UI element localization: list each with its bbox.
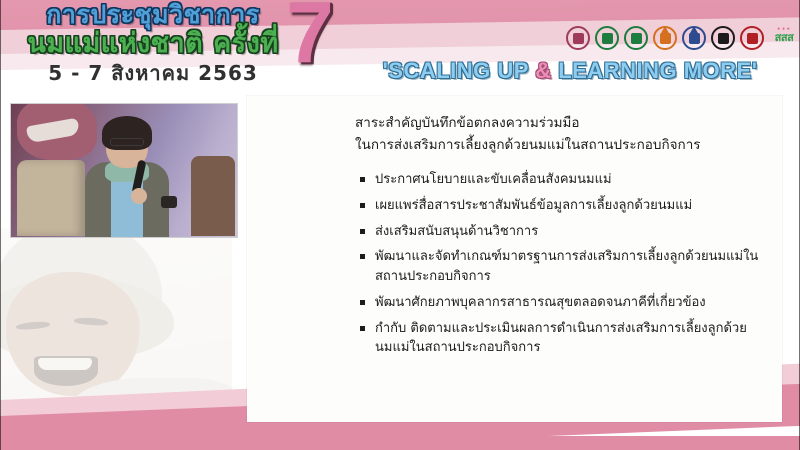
- conference-slogan: 'SCALING UP & LEARNING MORE': [355, 58, 785, 84]
- watermark-shoulder: [70, 378, 232, 428]
- logo-core: [602, 33, 613, 44]
- conference-title-block: การประชุมวิชาการ นมแม่แห่งชาติ ครั้งที่ …: [18, 2, 288, 83]
- list-item: ประกาศนโยบายและขับเคลื่อนสังคมนมแม่: [359, 170, 759, 190]
- presentation-slide: การประชุมวิชาการ นมแม่แห่งชาติ ครั้งที่ …: [0, 0, 800, 450]
- list-item: พัฒนาศักยภาพบุคลากรสาธารณสุขตลอดจนภาคีที…: [359, 293, 759, 313]
- ministry-of-public-health-logo: [595, 26, 619, 50]
- logo-core: [660, 33, 671, 44]
- thai-pediatric-society-logo: [653, 26, 677, 50]
- list-item: เผยแพร่สื่อสารประชาสัมพันธ์ข้อมูลการเลี้…: [359, 196, 759, 216]
- royal-patronage-seal-logo: [566, 26, 590, 50]
- ministry-of-labour-logo: [740, 26, 764, 50]
- conference-title-line2: นมแม่แห่งชาติ ครั้งที่: [18, 30, 288, 57]
- conference-date: 5 - 7 สิงหาคม 2563: [18, 63, 288, 83]
- watermark-teeth: [38, 358, 92, 370]
- logo-core: [631, 33, 642, 44]
- video-chair-right: [191, 156, 235, 236]
- slogan-part-open: 'SCALING UP: [383, 58, 536, 83]
- list-item: ส่งเสริมสนับสนุนด้านวิชาการ: [359, 222, 759, 242]
- speaker-glasses: [110, 138, 144, 146]
- list-item: พัฒนาและจัดทำเกณฑ์มาตรฐานการส่งเสริมการเ…: [359, 247, 759, 287]
- thaihealth-logo: ••• สสส: [769, 26, 799, 50]
- content-bullet-list: ประกาศนโยบายและขับเคลื่อนสังคมนมแม่ เผยแ…: [359, 170, 759, 364]
- logo-core: [573, 33, 584, 44]
- content-heading-line1: สาระสำคัญบันทึกข้อตกลงความร่วมมือ: [355, 112, 765, 134]
- content-heading-line2: ในการส่งเสริมการเลี้ยงลูกด้วยนมแม่ในสถาน…: [355, 134, 765, 156]
- presenter-clicker: [161, 196, 177, 208]
- nursing-council-logo: [711, 26, 735, 50]
- department-of-health-logo: [624, 26, 648, 50]
- slogan-part-close: LEARNING MORE': [552, 58, 758, 83]
- video-chair-left: [17, 160, 85, 236]
- conference-title-line1: การประชุมวิชาการ: [18, 2, 288, 27]
- logo-core: [718, 33, 729, 44]
- edition-number: 7: [286, 0, 334, 76]
- smiling-child-photo-watermark: [0, 228, 232, 428]
- slide-content-panel: สาระสำคัญบันทึกข้อตกลงความร่วมมือ ในการส…: [247, 96, 782, 422]
- partner-logo-strip: ••• สสส: [566, 26, 799, 50]
- logo-core: [747, 33, 758, 44]
- speaker-video-feed[interactable]: [10, 103, 238, 238]
- content-heading: สาระสำคัญบันทึกข้อตกลงความร่วมมือ ในการส…: [355, 112, 765, 157]
- speaker-hand: [131, 188, 147, 204]
- logo-core: [689, 33, 700, 44]
- thaihealth-dots: •••: [769, 27, 799, 33]
- slide-edge-left: [0, 0, 1, 450]
- royal-college-logo: [682, 26, 706, 50]
- slogan-ampersand: &: [535, 58, 551, 83]
- list-item: กำกับ ติดตามและประเมินผลการดำเนินการส่งเ…: [359, 319, 759, 359]
- footer-band-base: [0, 436, 800, 450]
